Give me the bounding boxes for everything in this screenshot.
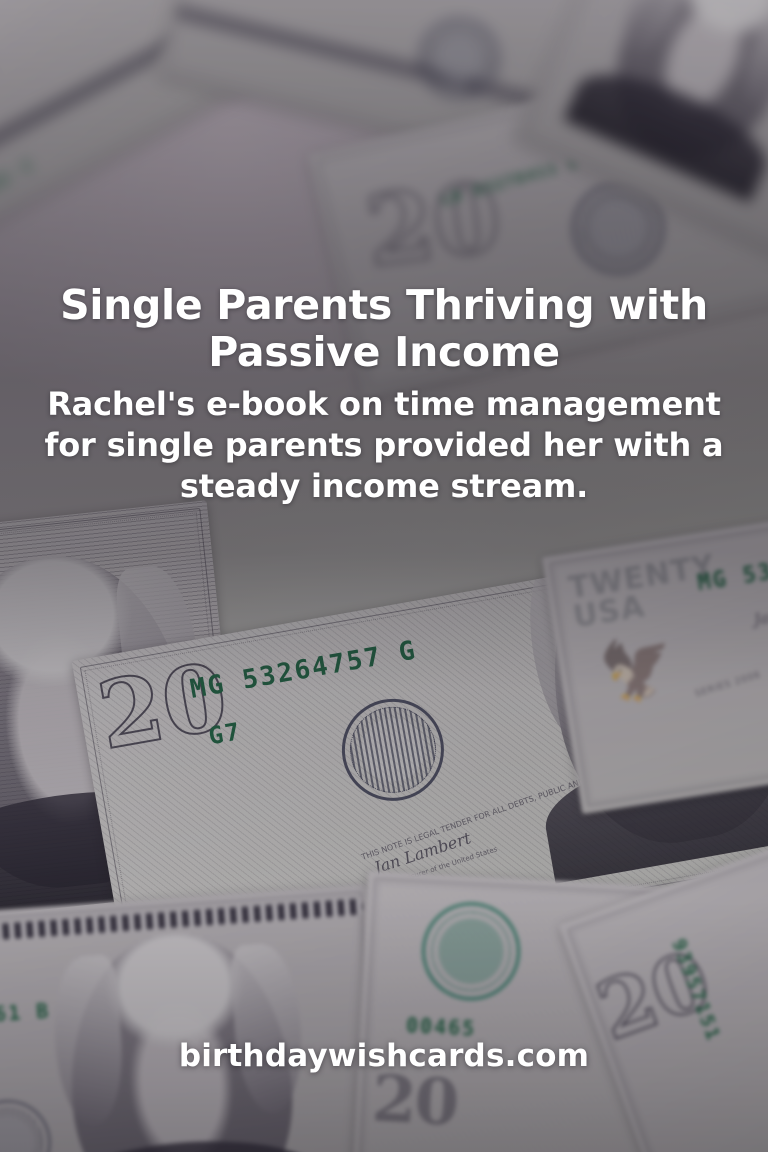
card-footer: birthdaywishcards.com — [0, 1038, 768, 1074]
card-headline: Single Parents Thriving with Passive Inc… — [42, 282, 726, 376]
card-content: Single Parents Thriving with Passive Inc… — [0, 0, 768, 1152]
footer-domain-label: birthdaywishcards.com — [179, 1038, 589, 1074]
headline-block: Single Parents Thriving with Passive Inc… — [0, 282, 768, 507]
card-subheadline: Rachel's e-book on time management for s… — [42, 384, 726, 507]
pinterest-card: 20 6661 C 20 LB 93278411 B — [0, 0, 768, 1152]
